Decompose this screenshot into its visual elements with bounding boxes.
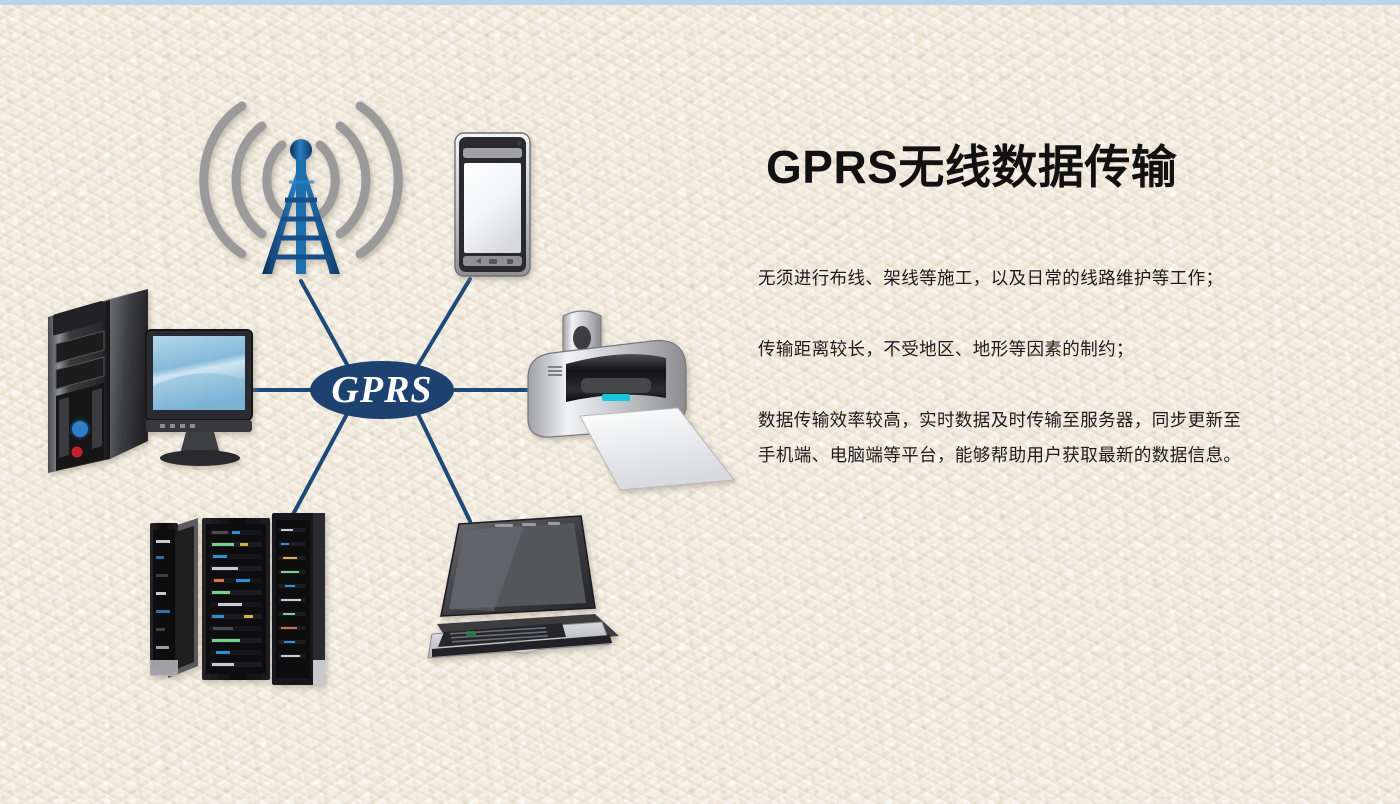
phone-screen bbox=[464, 163, 521, 253]
link-hub-to-phone bbox=[417, 279, 470, 367]
signal-tower-icon bbox=[204, 106, 399, 274]
monitor-base bbox=[160, 450, 240, 466]
pc-power-button bbox=[71, 420, 89, 438]
signal-waves-right bbox=[320, 106, 398, 254]
server-rack-icon bbox=[150, 513, 325, 685]
feature-paragraph-1-line-1: 无须进行布线、架线等施工，以及日常的线路维护等工作； bbox=[758, 261, 1358, 296]
link-hub-to-tower bbox=[301, 281, 349, 368]
feature-paragraph-2: 传输距离较长，不受地区、地形等因素的制约； bbox=[758, 332, 1358, 367]
gprs-hub-label: GPRS bbox=[331, 369, 432, 411]
printer-vent bbox=[548, 366, 562, 376]
text-column: GPRS无线数据传输 无须进行布线、架线等施工，以及日常的线路维护等工作； 传输… bbox=[758, 140, 1358, 473]
pc-tower-side bbox=[110, 289, 148, 459]
desktop-computer-icon bbox=[48, 289, 252, 473]
gprs-network-diagram: GPRS bbox=[0, 0, 740, 804]
feature-paragraph-3-line-2: 手机端、电脑端等平台，能够帮助用户获取最新的数据信息。 bbox=[758, 438, 1358, 473]
phone-earpiece bbox=[463, 148, 522, 158]
signal-waves-left bbox=[204, 106, 282, 254]
feature-paragraph-1: 无须进行布线、架线等施工，以及日常的线路维护等工作； bbox=[758, 261, 1358, 296]
link-hub-to-server bbox=[290, 414, 347, 520]
tower-beacon bbox=[290, 139, 312, 161]
link-hub-to-laptop bbox=[418, 414, 470, 521]
page-title: GPRS无线数据传输 bbox=[766, 140, 1358, 195]
slide-canvas: GPRS GPRS无线数据传输 无须进行布线、架线等施工，以及日常的线路维护等工… bbox=[0, 0, 1400, 804]
printer-output-paper bbox=[580, 408, 734, 490]
smartphone-icon bbox=[455, 133, 530, 276]
printer-lcd bbox=[602, 394, 630, 401]
feature-paragraph-2-line-1: 传输距离较长，不受地区、地形等因素的制约； bbox=[758, 332, 1358, 367]
feature-paragraph-list: 无须进行布线、架线等施工，以及日常的线路维护等工作； 传输距离较长，不受地区、地… bbox=[758, 261, 1358, 473]
feature-paragraph-3-line-1: 数据传输效率较高，实时数据及时传输至服务器，同步更新至 bbox=[758, 403, 1358, 438]
pc-reset-button bbox=[72, 447, 83, 458]
gprs-hub: GPRS bbox=[310, 361, 454, 419]
laptop-icon bbox=[428, 516, 619, 658]
printer-icon bbox=[528, 311, 734, 490]
feature-paragraph-3: 数据传输效率较高，实时数据及时传输至服务器，同步更新至 手机端、电脑端等平台，能… bbox=[758, 403, 1358, 473]
phone-camera bbox=[517, 141, 522, 146]
